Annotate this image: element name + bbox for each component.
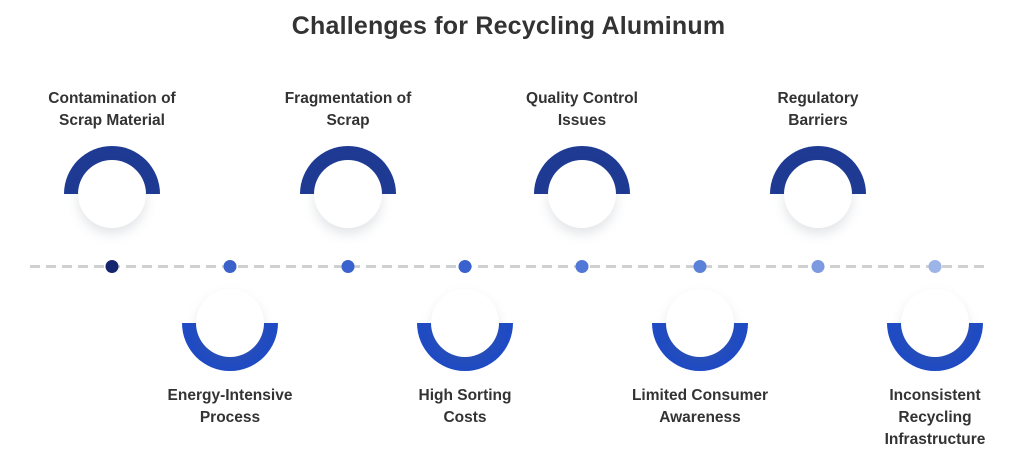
timeline-dot-5[interactable]: [576, 260, 589, 273]
milestone-ring: [182, 275, 278, 371]
milestone-ring: [534, 146, 630, 242]
milestone-ring: [652, 275, 748, 371]
milestone-bottom-1[interactable]: Energy-Intensive Process: [115, 275, 345, 429]
ring-inner-circle: [666, 289, 734, 357]
milestone-top-3[interactable]: Quality Control Issues: [467, 88, 697, 242]
ring-inner-circle: [196, 289, 264, 357]
milestone-ring: [770, 146, 866, 242]
milestone-ring: [417, 275, 513, 371]
timeline-axis: [30, 265, 987, 268]
timeline-dot-3[interactable]: [342, 260, 355, 273]
ring-inner-circle: [784, 160, 852, 228]
milestone-label: Energy-Intensive Process: [115, 385, 345, 429]
milestone-label: Quality Control Issues: [467, 88, 697, 132]
milestone-label: High Sorting Costs: [350, 385, 580, 429]
milestone-label: Inconsistent Recycling Infrastructure: [820, 385, 1017, 451]
milestone-ring: [300, 146, 396, 242]
milestone-label: Regulatory Barriers: [703, 88, 933, 132]
timeline-dot-7[interactable]: [812, 260, 825, 273]
milestone-ring: [887, 275, 983, 371]
milestone-label: Fragmentation of Scrap: [233, 88, 463, 132]
ring-inner-circle: [431, 289, 499, 357]
ring-inner-circle: [78, 160, 146, 228]
infographic-canvas: Challenges for Recycling Aluminum Contam…: [0, 0, 1017, 472]
ring-inner-circle: [314, 160, 382, 228]
timeline-dot-2[interactable]: [224, 260, 237, 273]
page-title: Challenges for Recycling Aluminum: [0, 12, 1017, 41]
timeline-dot-1[interactable]: [106, 260, 119, 273]
milestone-label: Contamination of Scrap Material: [0, 88, 227, 132]
milestone-top-2[interactable]: Fragmentation of Scrap: [233, 88, 463, 242]
timeline-dot-6[interactable]: [694, 260, 707, 273]
ring-inner-circle: [548, 160, 616, 228]
milestone-bottom-3[interactable]: Limited Consumer Awareness: [585, 275, 815, 429]
timeline-dot-8[interactable]: [929, 260, 942, 273]
timeline-dot-4[interactable]: [459, 260, 472, 273]
milestone-ring: [64, 146, 160, 242]
ring-inner-circle: [901, 289, 969, 357]
milestone-bottom-2[interactable]: High Sorting Costs: [350, 275, 580, 429]
milestone-top-4[interactable]: Regulatory Barriers: [703, 88, 933, 242]
milestone-bottom-4[interactable]: Inconsistent Recycling Infrastructure: [820, 275, 1017, 451]
milestone-top-1[interactable]: Contamination of Scrap Material: [0, 88, 227, 242]
milestone-label: Limited Consumer Awareness: [585, 385, 815, 429]
